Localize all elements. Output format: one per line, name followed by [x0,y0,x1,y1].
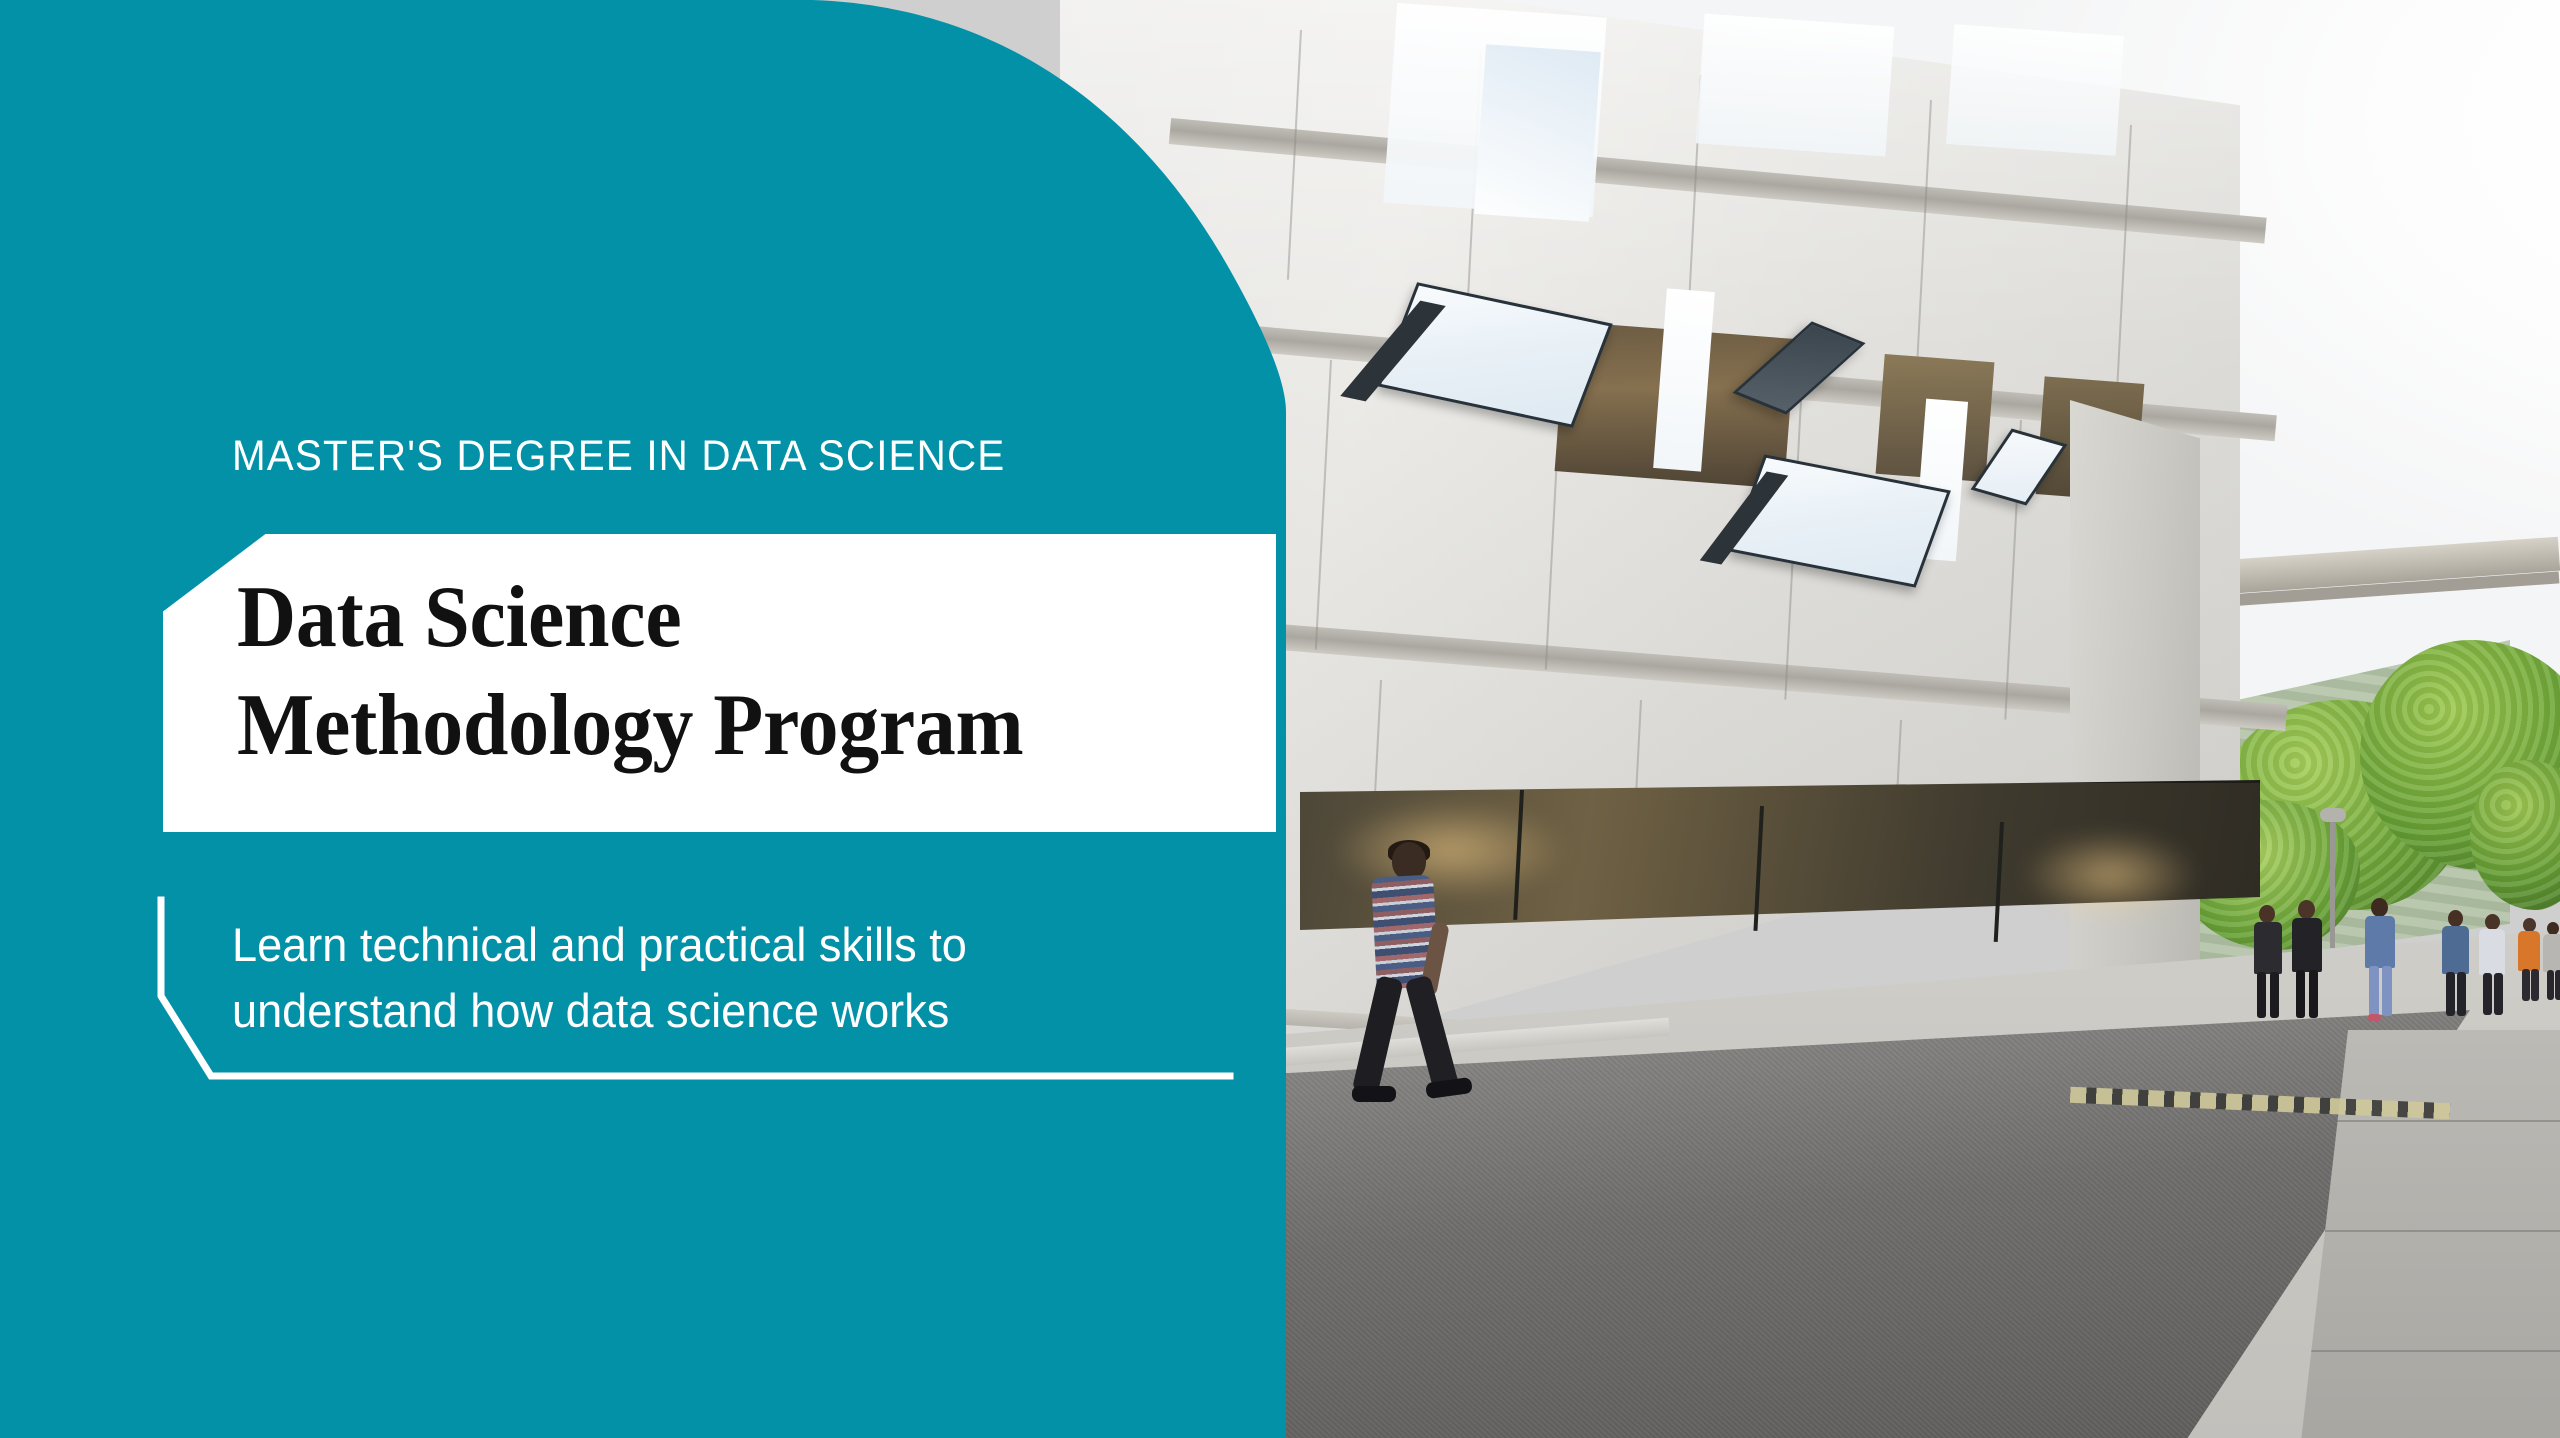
lamp-post [2330,818,2335,948]
slide-canvas: MASTER'S DEGREE IN DATA SCIENCE Data Sci… [0,0,2560,1438]
subtitle-line-1: Learn technical and practical skills to [232,912,1173,978]
person-distant [2476,914,2514,1018]
person-distant [2288,900,2330,1020]
subtitle-text: Learn technical and practical skills to … [232,912,1173,1044]
eyebrow-text: MASTER'S DEGREE IN DATA SCIENCE [232,432,1005,481]
facade-pilaster [2070,400,2200,1040]
person-leg [1404,975,1460,1096]
title-line-1: Data Science [237,564,1166,672]
subtitle-line-2: understand how data science works [232,978,1173,1044]
person-distant [2542,922,2560,1002]
title-card: Data Science Methodology Program [163,534,1276,832]
interior-light-glow [2020,830,2200,920]
person-distant [2360,898,2404,1022]
window-glass [1946,24,2124,156]
person-shoe [1352,1086,1396,1102]
person-leg [1352,975,1404,1096]
person-foreground [1330,840,1480,1110]
window-glass [1696,14,1895,157]
person-distant [2250,905,2290,1020]
lamp-head [2320,808,2346,822]
person-distant [2438,910,2478,1018]
window-glass [1474,44,1601,222]
title-line-2: Methodology Program [237,672,1166,780]
